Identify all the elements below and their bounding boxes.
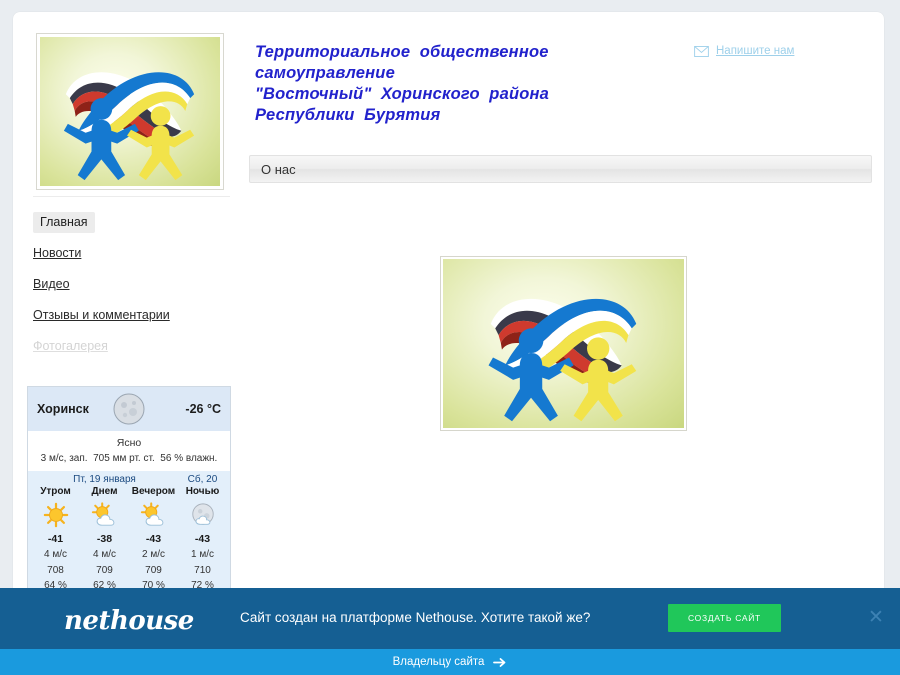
create-site-button[interactable]: СОЗДАТЬ САЙТ	[668, 604, 781, 632]
site-title-line-1: Территориальное общественное	[255, 42, 675, 63]
weather-temp: -41	[31, 530, 80, 547]
write-us-link[interactable]: Напишите нам	[694, 45, 794, 57]
weather-column-day: Днем -38	[80, 486, 129, 594]
site-logo-image	[40, 37, 220, 186]
weather-temp: -43	[129, 530, 178, 547]
weather-details: 3 м/с, зап. 705 мм рт. ст. 56 % влажн.	[32, 453, 226, 464]
moon-icon	[112, 392, 146, 426]
content-logo-image	[443, 259, 684, 428]
weather-part-label: Днем	[80, 486, 129, 500]
weather-day-labels: Пт, 19 января Сб, 20	[28, 474, 230, 486]
page-tabbar[interactable]: О нас	[249, 155, 872, 183]
close-icon[interactable]: ✕	[866, 608, 886, 628]
weather-forecast: Пт, 19 января Сб, 20 Утром	[28, 471, 230, 600]
sidebar-item-video-label[interactable]: Видео	[33, 277, 70, 291]
sun-cloud-icon	[129, 500, 178, 530]
weather-wind: 1 м/с	[178, 547, 227, 563]
weather-current-temp: -26 °C	[185, 402, 221, 416]
weather-current-detail: Ясно 3 м/с, зап. 705 мм рт. ст. 56 % вла…	[28, 431, 230, 471]
weather-city: Хоринск	[37, 402, 89, 416]
weather-column-night: Ночью -43 1 м/с 710 72 %	[178, 486, 227, 594]
page-root: Территориальное общественное самоуправле…	[0, 0, 900, 675]
sidebar-nav: Главная Новости Видео Отзывы и комментар…	[33, 213, 233, 355]
arrow-right-icon	[493, 657, 507, 668]
envelope-icon	[694, 46, 709, 57]
sidebar-item-home[interactable]: Главная	[33, 213, 233, 231]
sidebar-item-reviews[interactable]: Отзывы и комментарии	[33, 306, 233, 324]
site-title-line-3: "Восточный" Хоринского района	[255, 84, 675, 105]
sidebar-item-video[interactable]: Видео	[33, 275, 233, 293]
weather-day-primary: Пт, 19 января	[31, 474, 178, 485]
weather-temp: -43	[178, 530, 227, 547]
weather-pressure: 709	[80, 563, 129, 579]
sidebar-item-news-label[interactable]: Новости	[33, 246, 81, 260]
site-title-line-4: Республики Бурятия	[255, 105, 675, 126]
content-image[interactable]	[440, 256, 687, 431]
weather-temp: -38	[80, 530, 129, 547]
site-title: Территориальное общественное самоуправле…	[255, 42, 675, 126]
weather-column-morning: Утром -41 4 м/с	[31, 486, 80, 594]
sidebar-item-photogallery-label[interactable]: Фотогалерея	[33, 339, 108, 353]
sidebar-item-home-label[interactable]: Главная	[33, 212, 95, 233]
weather-widget[interactable]: Хоринск -26 °C Ясно 3 м/с, зап. 705 мм р…	[27, 386, 231, 601]
nethouse-logo[interactable]: nethouse	[64, 606, 194, 636]
weather-day-secondary: Сб, 20	[178, 474, 227, 485]
moon-cloud-icon	[178, 500, 227, 530]
sun-cloud-icon	[80, 500, 129, 530]
sidebar-item-reviews-label[interactable]: Отзывы и комментарии	[33, 308, 170, 322]
weather-wind: 2 м/с	[129, 547, 178, 563]
write-us-label[interactable]: Напишите нам	[716, 45, 794, 57]
site-logo[interactable]	[36, 33, 224, 190]
weather-forecast-grid: Утром -41 4 м/с	[28, 486, 230, 594]
weather-pressure: 710	[178, 563, 227, 579]
weather-condition: Ясно	[32, 437, 226, 449]
weather-pressure: 709	[129, 563, 178, 579]
tab-about[interactable]: О нас	[261, 162, 296, 177]
sidebar: Главная Новости Видео Отзывы и комментар…	[33, 196, 233, 368]
weather-header: Хоринск -26 °C	[28, 387, 230, 431]
weather-pressure: 708	[31, 563, 80, 579]
site-title-line-2: самоуправление	[255, 63, 675, 84]
weather-part-label: Утром	[31, 486, 80, 500]
weather-wind: 4 м/с	[31, 547, 80, 563]
weather-part-label: Ночью	[178, 486, 227, 500]
sidebar-item-news[interactable]: Новости	[33, 244, 233, 262]
logo-artwork	[40, 37, 220, 186]
banner-message: Сайт создан на платформе Nethouse. Хотит…	[240, 610, 590, 625]
weather-wind: 4 м/с	[80, 547, 129, 563]
weather-column-evening: Вечером -43	[129, 486, 178, 594]
owner-bar-label[interactable]: Владельцу сайта	[393, 656, 485, 668]
weather-part-label: Вечером	[129, 486, 178, 500]
owner-bar[interactable]: Владельцу сайта	[0, 649, 900, 675]
sidebar-item-photogallery[interactable]: Фотогалерея	[33, 337, 233, 355]
sidebar-divider	[33, 196, 230, 197]
sun-icon	[31, 500, 80, 530]
logo-artwork	[443, 259, 684, 428]
